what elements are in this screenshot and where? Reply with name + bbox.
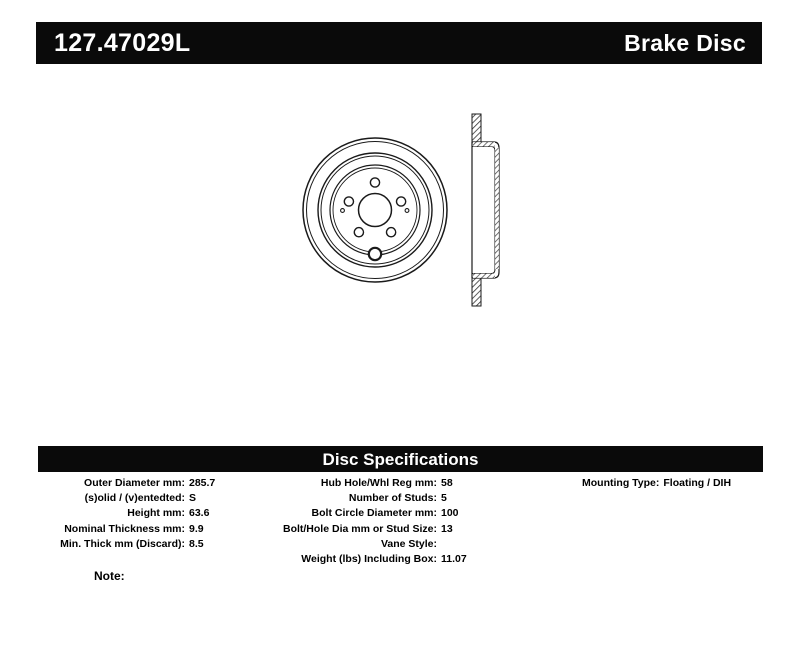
- spec-value: 8.5: [189, 537, 279, 552]
- spec-label: Min. Thick mm (Discard):: [0, 537, 189, 552]
- spec-row: Bolt Circle Diameter mm: 100: [280, 506, 560, 521]
- spec-label: (s)olid / (v)entedted:: [0, 491, 189, 506]
- spec-row: Vane Style:: [280, 537, 560, 552]
- spec-label: Bolt/Hole Dia mm or Stud Size:: [280, 522, 441, 537]
- spec-label: Number of Studs:: [280, 491, 441, 506]
- hub-hole: [359, 194, 392, 227]
- spec-row: Min. Thick mm (Discard): 8.5: [0, 537, 280, 552]
- spec-row: Weight (lbs) Including Box: 11.07: [280, 552, 560, 567]
- product-drawing-area: [0, 80, 800, 410]
- spec-value: 58: [441, 476, 551, 491]
- spec-value: S: [189, 491, 279, 506]
- part-number: 127.47029L: [54, 31, 190, 56]
- spec-label: Mounting Type:: [582, 476, 663, 491]
- spec-value: 9.9: [189, 522, 279, 537]
- spec-column-right: Mounting Type: Floating / DIH: [560, 476, 800, 491]
- spec-row: Nominal Thickness mm: 9.9: [0, 522, 280, 537]
- brake-disc-technical-drawing: [280, 100, 540, 310]
- spec-row: (s)olid / (v)entedted: S: [0, 491, 280, 506]
- spec-label: Nominal Thickness mm:: [0, 522, 189, 537]
- spec-bar-title: Disc Specifications: [323, 451, 479, 468]
- spec-row: Mounting Type: Floating / DIH: [560, 476, 800, 491]
- brake-disc-side-section-view: [472, 114, 499, 306]
- spec-row: Hub Hole/Whl Reg mm: 58: [280, 476, 560, 491]
- spec-label: Outer Diameter mm:: [0, 476, 189, 491]
- spec-value: 5: [441, 491, 551, 506]
- spec-value: 285.7: [189, 476, 279, 491]
- spec-row: Number of Studs: 5: [280, 491, 560, 506]
- spec-column-middle: Hub Hole/Whl Reg mm: 58 Number of Studs:…: [280, 476, 560, 567]
- spec-label: Height mm:: [0, 506, 189, 521]
- spec-label: Bolt Circle Diameter mm:: [280, 506, 441, 521]
- spec-label: Vane Style:: [280, 537, 441, 552]
- spec-value: 63.6: [189, 506, 279, 521]
- spec-value: 100: [441, 506, 551, 521]
- spec-value: 13: [441, 522, 551, 537]
- spec-label: Weight (lbs) Including Box:: [280, 552, 441, 567]
- brake-disc-face-view: [303, 138, 447, 282]
- product-title: Brake Disc: [624, 32, 746, 55]
- spec-column-left: Outer Diameter mm: 285.7 (s)olid / (v)en…: [0, 476, 280, 552]
- spec-value: 11.07: [441, 552, 551, 567]
- spec-row: Bolt/Hole Dia mm or Stud Size: 13: [280, 522, 560, 537]
- header-banner: 127.47029L Brake Disc: [36, 22, 762, 64]
- spec-row: Outer Diameter mm: 285.7: [0, 476, 280, 491]
- note-block: Note:: [94, 570, 131, 582]
- spec-label: Hub Hole/Whl Reg mm:: [280, 476, 441, 491]
- disc-specifications-bar: Disc Specifications: [38, 446, 763, 472]
- note-label: Note:: [94, 570, 125, 582]
- extractor-hole: [369, 248, 381, 260]
- spec-row: Height mm: 63.6: [0, 506, 280, 521]
- spec-value: Floating / DIH: [663, 476, 731, 491]
